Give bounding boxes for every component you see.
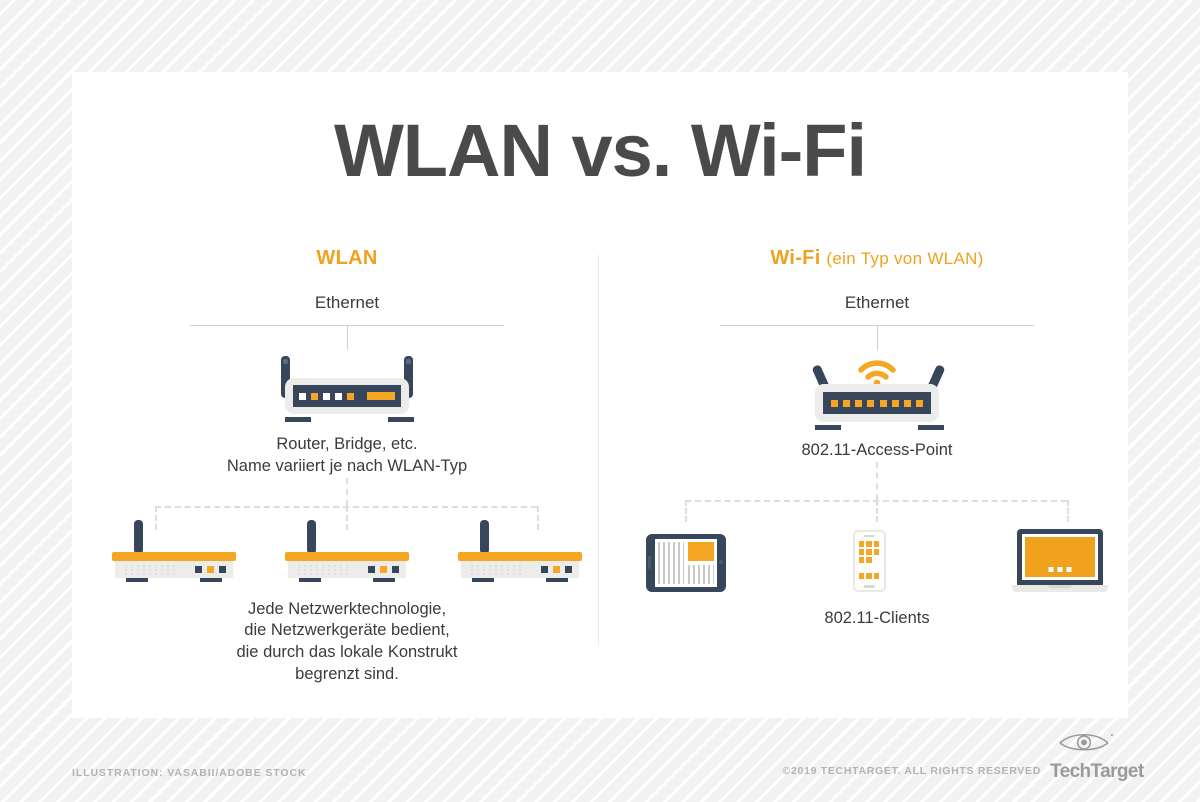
ap-panel: [823, 392, 931, 414]
wifi-clients-caption: 802.11-Clients: [632, 608, 1122, 630]
wlan-device-row: [102, 520, 592, 582]
device-led: [380, 566, 387, 573]
phone-app-icon: [859, 557, 865, 563]
phone-app-slot-empty: [859, 565, 865, 571]
laptop-dot: [1058, 567, 1063, 572]
connector-vertical-center: [876, 462, 878, 500]
laptop-base: [1012, 585, 1108, 592]
wlan-ethernet-drop: [347, 326, 348, 350]
tablet-device: [646, 534, 726, 592]
wlan-ethernet-label: Ethernet: [102, 293, 592, 313]
ap-led: [855, 400, 862, 407]
wlan-device-caption: Router, Bridge, etc. Name variiert je na…: [102, 434, 592, 478]
tablet-side-button: [648, 556, 651, 569]
phone-app-icon: [859, 549, 865, 555]
device-top-bar: [112, 552, 236, 561]
laptop-bezel: [1022, 534, 1098, 580]
device-leds: [368, 566, 399, 573]
device-leds: [541, 566, 572, 573]
phone-speaker: [864, 535, 875, 537]
wlan-device: [458, 520, 582, 582]
router-status-bar: [367, 392, 395, 400]
phone-app-icon: [866, 557, 872, 563]
device-antenna: [307, 520, 316, 554]
footer-branding: ©2019 TECHTARGET. ALL RIGHTS RESERVED Te…: [783, 730, 1128, 781]
wlan-device: [112, 520, 236, 582]
wifi-connectors: [632, 462, 1122, 508]
wlan-device-caption-line2: Name variiert je nach WLAN-Typ: [102, 456, 592, 478]
wlan-description-line1: Jede Netzwerktechnologie,: [102, 599, 592, 621]
ap-led: [916, 400, 923, 407]
tablet-image-block: [688, 542, 714, 561]
infographic-card: WLAN vs. Wi-Fi WLAN Ethernet: [72, 72, 1128, 718]
wifi-device-caption: 802.11-Access-Point: [632, 440, 1122, 462]
device-foot-right: [373, 578, 395, 582]
phone-app-slot-empty: [874, 565, 880, 571]
wifi-client-row: [632, 522, 1122, 592]
router-led: [335, 393, 342, 400]
router-led: [323, 393, 330, 400]
phone-app-icon: [866, 573, 872, 579]
device-led: [195, 566, 202, 573]
phone-device: [853, 530, 886, 592]
device-foot-left: [126, 578, 148, 582]
device-led: [368, 566, 375, 573]
tablet-text-lines-secondary: [688, 565, 714, 584]
device-vent-grid: [123, 564, 175, 575]
device-led: [565, 566, 572, 573]
laptop-dot: [1049, 567, 1054, 572]
phone-app-grid: [859, 541, 880, 579]
device-led: [553, 566, 560, 573]
phone-app-icon: [859, 573, 865, 579]
device-foot-right: [546, 578, 568, 582]
phone-app-slot-empty: [866, 565, 872, 571]
router-body: [285, 378, 409, 414]
laptop-trackpad-notch: [1048, 585, 1072, 588]
router-foot-left: [285, 417, 311, 422]
device-leds: [195, 566, 226, 573]
device-foot-right: [200, 578, 222, 582]
techtarget-logo: TechTarget: [1050, 730, 1128, 781]
ap-led: [904, 400, 911, 407]
device-led: [392, 566, 399, 573]
page-title: WLAN vs. Wi-Fi: [72, 114, 1128, 188]
ap-led: [867, 400, 874, 407]
tablet-camera: [719, 560, 723, 564]
wlan-heading: WLAN: [102, 247, 592, 270]
connector-vertical-client2: [876, 500, 878, 522]
device-body: [115, 561, 233, 578]
laptop-lid: [1017, 529, 1103, 585]
laptop-dot: [1067, 567, 1072, 572]
laptop-device: [1012, 529, 1108, 592]
wlan-description-line2: die Netzwerkgeräte bedient,: [102, 620, 592, 642]
wifi-access-point: [632, 352, 1122, 430]
device-led: [219, 566, 226, 573]
ap-led: [831, 400, 838, 407]
router-foot-right: [388, 417, 414, 422]
device-body: [461, 561, 579, 578]
phone-app-icon: [859, 541, 865, 547]
wlan-router: [102, 352, 592, 422]
router-led: [311, 393, 318, 400]
phone-app-icon: [874, 549, 880, 555]
phone-app-slot-empty: [874, 557, 880, 563]
device-vent-grid: [469, 564, 521, 575]
wlan-heading-label: WLAN: [316, 247, 377, 269]
ap-led: [892, 400, 899, 407]
wifi-heading-sub: (ein Typ von WLAN): [826, 249, 983, 268]
laptop-screen-dots: [1049, 567, 1072, 572]
illustration-credit: ILLUSTRATION: VASABII/ADOBE STOCK: [72, 767, 306, 779]
ap-led: [843, 400, 850, 407]
device-top-bar: [285, 552, 409, 561]
router-panel: [293, 385, 401, 407]
device-antenna: [134, 520, 143, 554]
wifi-column: Wi-Fi (ein Typ von WLAN) Ethernet: [632, 247, 1122, 630]
techtarget-wordmark: TechTarget: [1050, 762, 1128, 781]
device-vent-grid: [296, 564, 348, 575]
connector-vertical-center: [346, 478, 348, 506]
wlan-description: Jede Netzwerktechnologie, die Netzwerkge…: [102, 599, 592, 686]
phone-app-icon: [866, 549, 872, 555]
device-led: [541, 566, 548, 573]
tablet-text-lines: [658, 542, 684, 584]
device-body: [288, 561, 406, 578]
ap-foot-right: [918, 425, 944, 430]
phone-home-button: [864, 585, 875, 588]
phone-app-icon: [874, 541, 880, 547]
copyright-notice: ©2019 TECHTARGET. ALL RIGHTS RESERVED: [783, 765, 1041, 781]
wlan-connectors: [102, 478, 592, 514]
column-divider: [598, 255, 599, 645]
device-led: [207, 566, 214, 573]
phone-app-icon: [866, 541, 872, 547]
wifi-heading-label: Wi-Fi: [770, 247, 820, 269]
ap-foot-left: [815, 425, 841, 430]
tablet-screen: [655, 539, 717, 587]
laptop-screen: [1025, 537, 1095, 577]
wifi-heading: Wi-Fi (ein Typ von WLAN): [632, 247, 1122, 270]
router-led: [347, 393, 354, 400]
wlan-device: [285, 520, 409, 582]
wifi-ethernet-drop: [877, 326, 878, 350]
router-led: [299, 393, 306, 400]
phone-app-icon: [874, 573, 880, 579]
connector-vertical-client1: [685, 500, 687, 522]
wlan-column: WLAN Ethernet Router, Brid: [102, 247, 592, 686]
ap-led: [880, 400, 887, 407]
connector-vertical-client3: [1067, 500, 1069, 522]
wifi-ethernet-label: Ethernet: [632, 293, 1122, 313]
wlan-description-line3: die durch das lokale Konstrukt: [102, 642, 592, 664]
device-antenna: [480, 520, 489, 554]
ap-body: [815, 384, 939, 422]
wlan-description-line4: begrenzt sind.: [102, 664, 592, 686]
device-top-bar: [458, 552, 582, 561]
techtarget-eye-icon: [1050, 730, 1128, 756]
wlan-device-caption-line1: Router, Bridge, etc.: [102, 434, 592, 456]
device-foot-left: [299, 578, 321, 582]
device-foot-left: [472, 578, 494, 582]
